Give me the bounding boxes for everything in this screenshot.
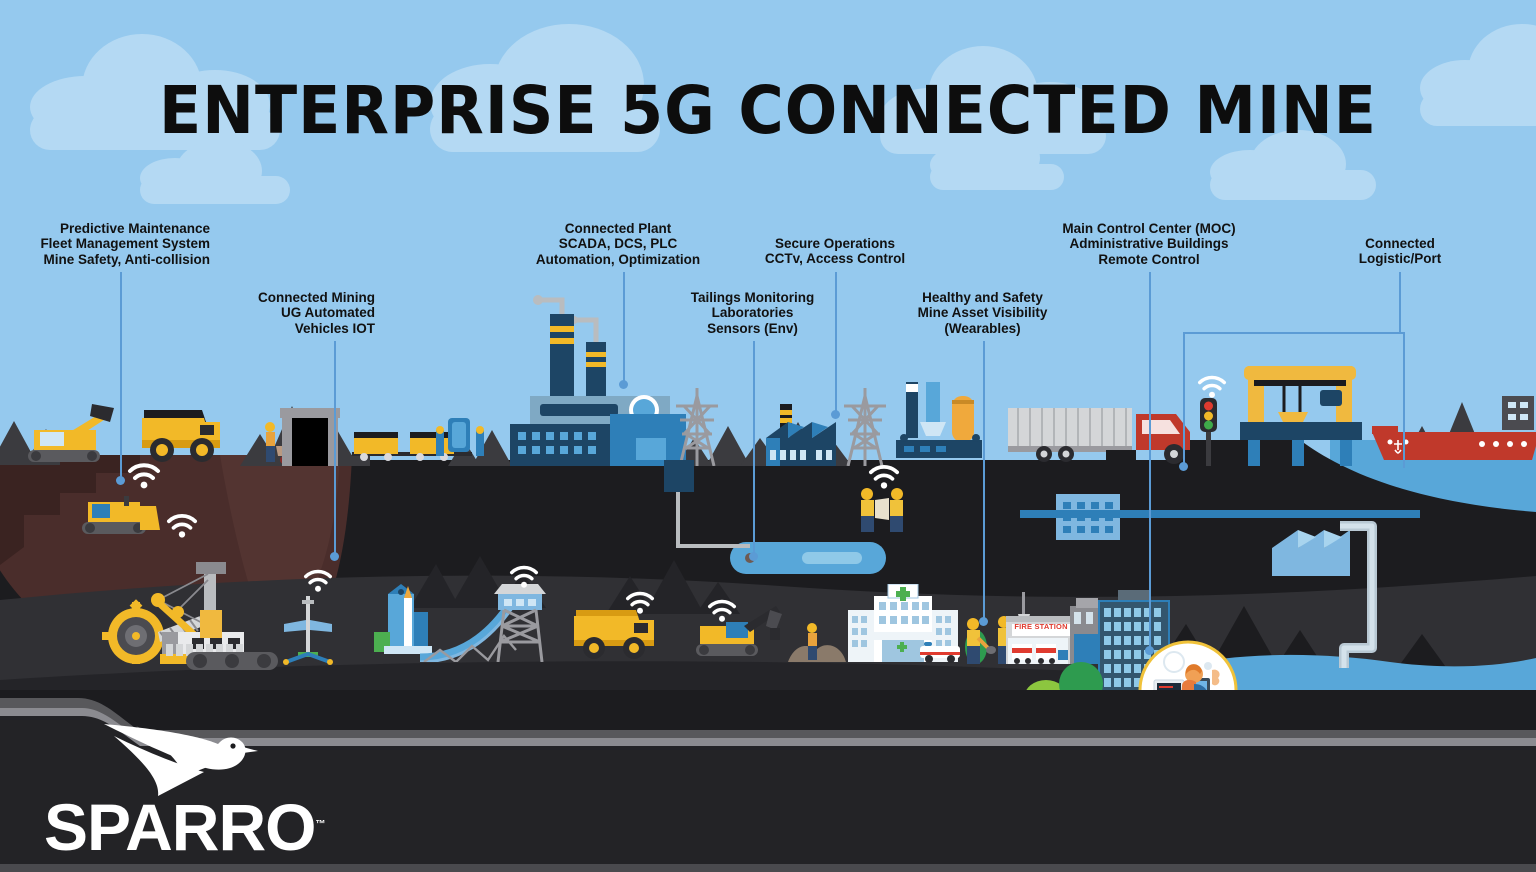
- bulldozer-wifi-icon: [124, 459, 164, 491]
- leader-line-healthy-and-safety: [983, 341, 985, 621]
- leader-line-connected-mining: [334, 341, 336, 556]
- callout-secure-operations: Secure Operations CCTv, Access Control: [745, 236, 925, 267]
- fire-station-sign-label: FIRE STATION: [1012, 622, 1070, 631]
- environment-sensor-pole: [282, 596, 334, 666]
- leader-dot-connected-logistic-port: [1179, 462, 1188, 471]
- ambulance: [920, 642, 962, 664]
- surface-excavator: [10, 400, 120, 466]
- workers-with-blueprint: [855, 486, 909, 532]
- ore-cart-lift-station: [432, 412, 488, 466]
- tailings-feed-pipe: [664, 460, 754, 556]
- leader-line-predictive-maintenance: [120, 272, 122, 480]
- surface-haul-truck: [140, 392, 230, 466]
- sensor-pole-wifi-icon: [300, 566, 336, 594]
- workers-wifi-icon: [865, 461, 903, 491]
- leader-dot-predictive-maintenance: [116, 476, 125, 485]
- leader-dot-main-control-center: [1145, 646, 1154, 655]
- bucketwheel-wifi-icon: [163, 510, 201, 540]
- callout-main-control-center: Main Control Center (MOC) Administrative…: [1053, 221, 1245, 267]
- conveyor-and-headframe: [420, 580, 590, 662]
- leader-elbow-connected-logistic-port: [1183, 332, 1405, 468]
- pit-bulldozer: [78, 488, 170, 540]
- leader-dot-connected-plant: [619, 380, 628, 389]
- leader-line-main-control-center: [1149, 272, 1151, 650]
- factory-sawtooth: [760, 404, 870, 466]
- bucket-wheel-excavator: [100, 540, 260, 664]
- leader-dot-tailings-monitoring: [749, 552, 758, 561]
- bucket-wheel-tracks: [186, 648, 278, 672]
- leader-line-tailings-monitoring: [753, 341, 755, 556]
- callout-healthy-and-safety: Healthy and Safety Mine Asset Visibility…: [895, 290, 1070, 336]
- road-bottom-edge: [0, 864, 1536, 872]
- leader-line-connected-logistic-port: [1399, 272, 1401, 334]
- semi-truck-trailer: [1008, 404, 1208, 466]
- leader-dot-healthy-and-safety: [979, 617, 988, 626]
- ore-pile-and-miner: [788, 620, 852, 662]
- callout-connected-logistic-port: Connected Logistic/Port: [1330, 236, 1470, 267]
- page-title: ENTERPRISE 5G CONNECTED MINE: [0, 78, 1536, 144]
- leader-dot-connected-mining: [330, 552, 339, 561]
- power-pylon-1: [672, 388, 722, 466]
- mine-portal-entrance: [280, 408, 340, 466]
- connected-plant: [500, 286, 690, 466]
- sparrow-bird-icon: [100, 722, 260, 796]
- refinery-unit: [890, 382, 990, 466]
- brand-trademark: ™: [315, 819, 324, 830]
- headframe-wifi-icon: [506, 562, 542, 590]
- brand-wordmark: SPARRO™: [44, 792, 324, 860]
- leader-dot-secure-operations: [831, 410, 840, 419]
- callout-connected-mining: Connected Mining UG Automated Vehicles I…: [205, 290, 375, 336]
- haul-truck-wifi-icon: [622, 588, 658, 616]
- underground-water-pipes: [1336, 518, 1446, 676]
- infographic-canvas: ENTERPRISE 5G CONNECTED MINE: [0, 0, 1536, 872]
- callout-tailings-monitoring: Tailings Monitoring Laboratories Sensors…: [665, 290, 840, 336]
- excavator-wifi-icon: [704, 596, 740, 624]
- leader-line-connected-plant: [623, 272, 625, 384]
- callout-connected-plant: Connected Plant SCADA, DCS, PLC Automati…: [528, 221, 708, 267]
- brand-name: SPARRO: [44, 790, 315, 864]
- callout-predictive-maintenance: Predictive Maintenance Fleet Management …: [30, 221, 210, 267]
